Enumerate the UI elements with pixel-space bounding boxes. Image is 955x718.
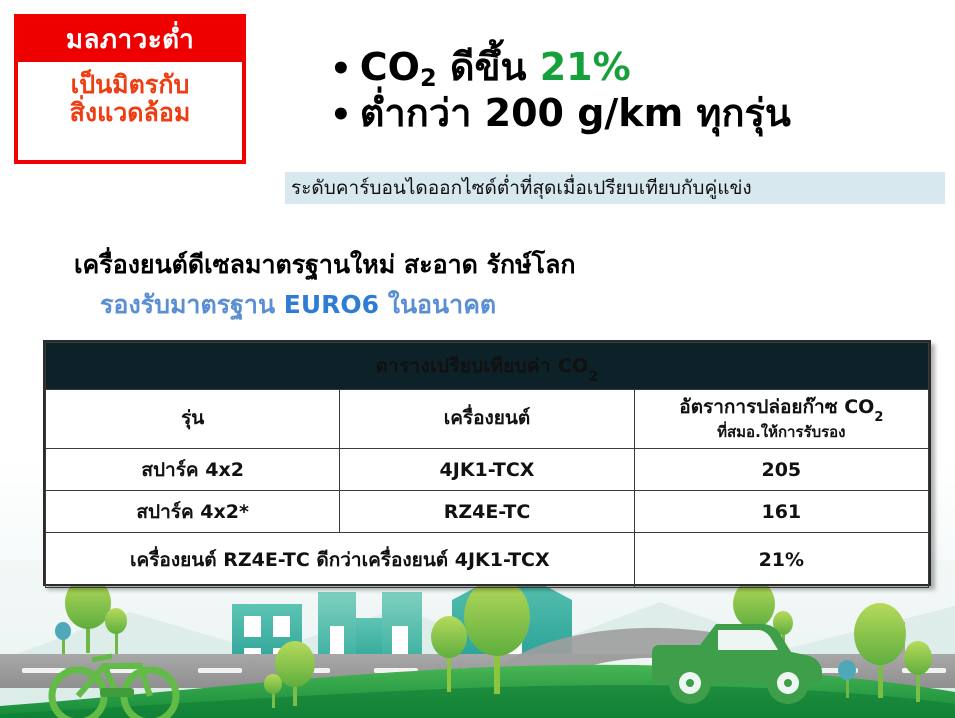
cell-co2-1: 205 xyxy=(634,449,928,491)
column-header-co2-sublabel: ที่สมอ.ให้การรับรอง xyxy=(636,423,927,442)
badge-header-label: มลภาวะต่ำ xyxy=(18,18,242,62)
headline-line1-mid: ดีขึ้น xyxy=(437,45,540,89)
bullet-icon-2: • xyxy=(330,95,352,136)
column-header-engine: เครื่องยนต์ xyxy=(340,390,634,449)
table-row: สปาร์ค 4x2 4JK1-TCX 205 xyxy=(46,449,929,491)
summary-value: 21% xyxy=(634,533,928,588)
badge-body-line1: เป็นมิตรกับ xyxy=(18,71,242,99)
column-header-co2-subscript: 2 xyxy=(874,410,883,425)
column-header-co2-text: อัตราการปล่อยก๊าซ CO xyxy=(679,396,874,418)
subheading-secondary-post: ในอนาคต xyxy=(379,290,496,319)
summary-text: เครื่องยนต์ RZ4E-TC ดีกว่าเครื่องยนต์ 4J… xyxy=(46,533,635,588)
table-title-text: ตารางเปรียบเทียบค่า CO xyxy=(375,355,588,377)
table-summary-row: เครื่องยนต์ RZ4E-TC ดีกว่าเครื่องยนต์ 4J… xyxy=(46,533,929,588)
table-title-subscript: 2 xyxy=(589,369,599,385)
subheading-secondary-pre: รองรับมาตรฐาน xyxy=(100,290,284,319)
bullet-icon: • xyxy=(330,49,352,90)
headline-co2-text: CO xyxy=(360,45,420,89)
headline-improvement-value: 21% xyxy=(540,45,631,89)
cell-model-2: สปาร์ค 4x2* xyxy=(46,491,340,533)
cell-engine-2: RZ4E-TC xyxy=(340,491,634,533)
headline-co2-subscript: 2 xyxy=(420,64,437,92)
euro-standard-label: EURO6 xyxy=(284,290,379,319)
cell-model-1: สปาร์ค 4x2 xyxy=(46,449,340,491)
eco-badge: มลภาวะต่ำ เป็นมิตรกับ สิ่งแวดล้อม xyxy=(14,14,246,164)
caption-banner: ระดับคาร์บอนไดออกไซด์ต่ำที่สุดเมื่อเปรีย… xyxy=(285,172,945,204)
table-row: สปาร์ค 4x2* RZ4E-TC 161 xyxy=(46,491,929,533)
column-header-model: รุ่น xyxy=(46,390,340,449)
column-header-co2: อัตราการปล่อยก๊าซ CO2ที่สมอ.ให้การรับรอง xyxy=(634,390,928,449)
badge-body-line2: สิ่งแวดล้อม xyxy=(18,99,242,127)
co2-comparison-table: ตารางเปรียบเทียบค่า CO2 รุ่น เครื่องยนต์… xyxy=(43,340,931,586)
headline-line2-text: ต่ำกว่า 200 g/km ทุกรุ่น xyxy=(360,91,791,135)
cell-co2-2: 161 xyxy=(634,491,928,533)
table-header-row: รุ่น เครื่องยนต์ อัตราการปล่อยก๊าซ CO2ที… xyxy=(46,390,929,449)
table-title: ตารางเปรียบเทียบค่า CO2 xyxy=(46,343,929,390)
headline-line-2: •ต่ำกว่า 200 g/km ทุกรุ่น xyxy=(330,90,950,136)
slide-canvas: มลภาวะต่ำ เป็นมิตรกับ สิ่งแวดล้อม •CO2 ด… xyxy=(0,0,955,718)
headline-line-1: •CO2 ดีขึ้น 21% xyxy=(330,44,950,90)
subheading-secondary: รองรับมาตรฐาน EURO6 ในอนาคต xyxy=(100,285,496,325)
subheading-primary: เครื่องยนต์ดีเซลมาตรฐานใหม่ สะอาด รักษ์โ… xyxy=(74,245,576,285)
cell-engine-1: 4JK1-TCX xyxy=(340,449,634,491)
table-title-row: ตารางเปรียบเทียบค่า CO2 xyxy=(46,343,929,390)
badge-body: เป็นมิตรกับ สิ่งแวดล้อม xyxy=(18,62,242,127)
headline: •CO2 ดีขึ้น 21% •ต่ำกว่า 200 g/km ทุกรุ่… xyxy=(330,44,950,137)
